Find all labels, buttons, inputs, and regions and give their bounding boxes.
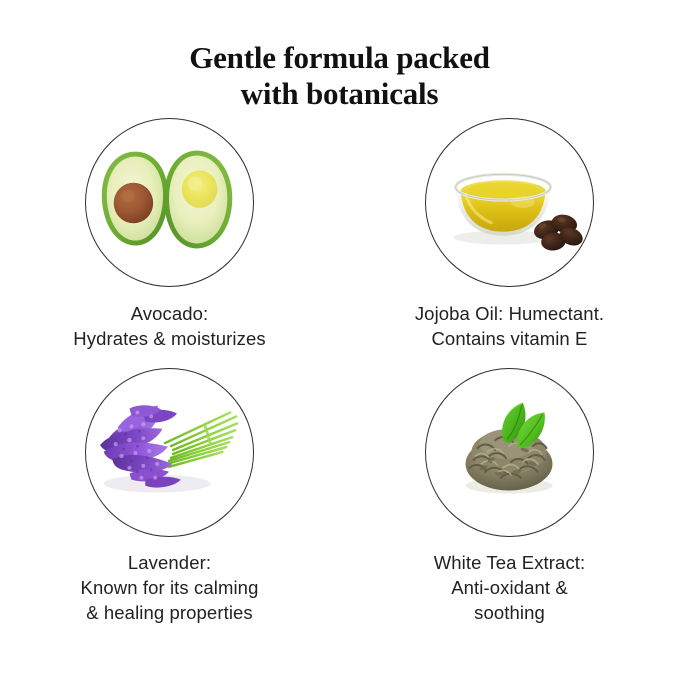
ingredient-caption-lavender: Lavender: Known for its calming & healin…	[0, 550, 339, 625]
ingredient-item-white-tea-extract: White Tea Extract: Anti-oxidant & soothi…	[340, 368, 679, 625]
ingredient-circle-avocado	[85, 118, 254, 287]
caption-line: & healing properties	[0, 600, 339, 625]
caption-line: White Tea Extract:	[340, 550, 679, 575]
title-line-2: with botanicals	[0, 76, 679, 112]
ingredient-caption-avocado: Avocado: Hydrates & moisturizes	[0, 301, 339, 351]
page-title: Gentle formula packed with botanicals	[0, 40, 679, 112]
caption-line: Contains vitamin E	[340, 326, 679, 351]
white-tea-leaves-photo	[426, 369, 593, 536]
ingredient-circle-white-tea-extract	[425, 368, 594, 537]
ingredient-infographic: Gentle formula packed with botanicals	[0, 0, 679, 679]
caption-line: soothing	[340, 600, 679, 625]
ingredient-caption-jojoba-oil: Jojoba Oil: Humectant. Contains vitamin …	[340, 301, 679, 351]
caption-line: Jojoba Oil: Humectant.	[340, 301, 679, 326]
caption-line: Lavender:	[0, 550, 339, 575]
caption-line: Hydrates & moisturizes	[0, 326, 339, 351]
jojoba-oil-bowl-photo	[426, 119, 593, 286]
ingredient-circle-lavender	[85, 368, 254, 537]
ingredient-circle-jojoba-oil	[425, 118, 594, 287]
caption-line: Avocado:	[0, 301, 339, 326]
avocado-halves-photo	[86, 119, 253, 286]
ingredient-item-jojoba-oil: Jojoba Oil: Humectant. Contains vitamin …	[340, 118, 679, 351]
ingredient-item-lavender: Lavender: Known for its calming & healin…	[0, 368, 339, 625]
caption-line: Known for its calming	[0, 575, 339, 600]
ingredient-caption-white-tea-extract: White Tea Extract: Anti-oxidant & soothi…	[340, 550, 679, 625]
caption-line: Anti-oxidant &	[340, 575, 679, 600]
ingredient-grid: Avocado: Hydrates & moisturizes	[0, 118, 679, 658]
ingredient-item-avocado: Avocado: Hydrates & moisturizes	[0, 118, 339, 351]
title-line-1: Gentle formula packed	[0, 40, 679, 76]
lavender-bundle-photo	[86, 369, 253, 536]
